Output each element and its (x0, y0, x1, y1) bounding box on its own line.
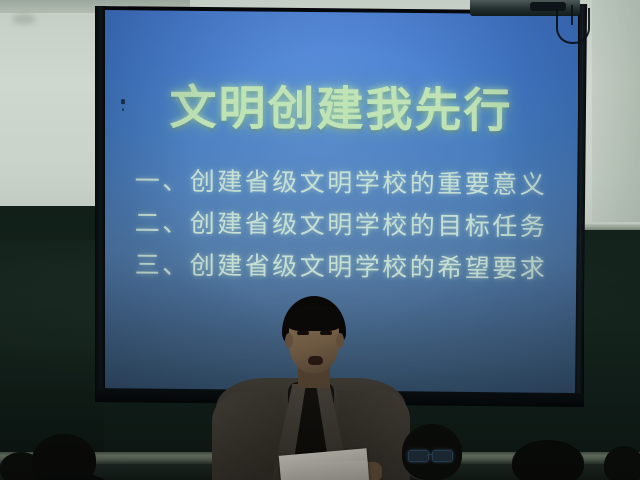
slide-bullet-list: 一、创建省级文明学校的重要意义 二、创建省级文明学校的目标任务 三、创建省级文明… (104, 160, 578, 291)
wall-shading-right (592, 0, 640, 222)
presenter-ear-right (336, 333, 344, 348)
slide-title: 文明创建我先行 (104, 68, 578, 142)
audience-member-left (14, 434, 124, 480)
audience-member-right (500, 440, 596, 480)
slide-bullet-1: 一、创建省级文明学校的重要意义 (104, 160, 578, 207)
slide-bullet-2: 二、创建省级文明学校的目标任务 (104, 202, 578, 249)
presenter-fringe (285, 305, 343, 331)
hanging-cable-icon (556, 8, 590, 44)
lecture-hall-photo: 文明创建我先行 一、创建省级文明学校的重要意义 二、创建省级文明学校的目标任务 … (0, 0, 640, 480)
eyeglasses-lens-left (408, 450, 429, 462)
hanging-cable-tail-icon (571, 5, 573, 25)
wall-smudge (12, 14, 36, 24)
presenter-mouth (308, 356, 323, 365)
presenter-notes-paper-second (288, 461, 369, 480)
slide-bullet-3: 三、创建省级文明学校的希望要求 (104, 244, 578, 291)
audience-member-far-right (604, 446, 640, 480)
audience-head (512, 440, 584, 480)
presenter-eye-right (320, 331, 332, 335)
eyeglasses-lens-right (432, 450, 453, 462)
screen-left-rail (95, 6, 105, 398)
eyeglasses-icon (408, 450, 456, 460)
presenter (210, 296, 410, 480)
presenter-eye-left (297, 331, 309, 335)
audience-head (604, 446, 640, 480)
presenter-shoulder-left (212, 392, 282, 480)
presenter-ear-left (285, 333, 293, 348)
audience-body (14, 474, 124, 480)
